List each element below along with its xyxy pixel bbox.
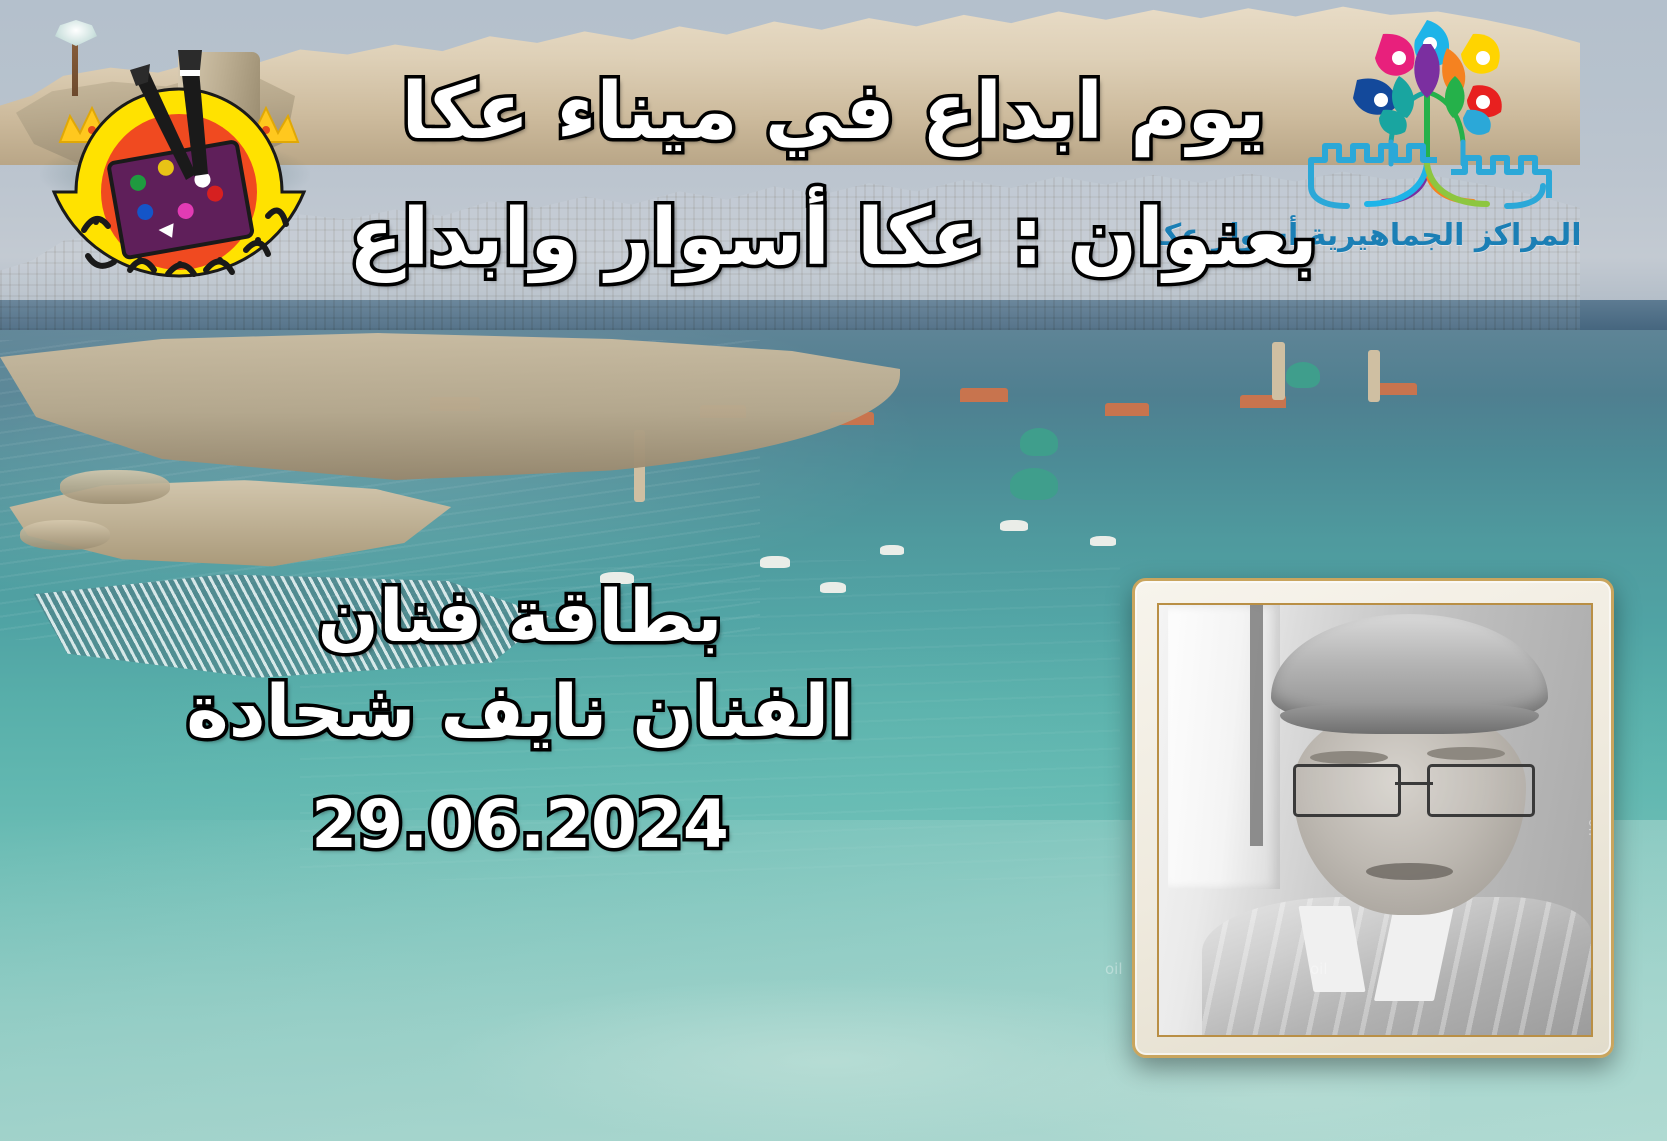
- lens-right: [1427, 764, 1535, 817]
- coastal-rocks: [20, 520, 110, 550]
- poster-title-line1: يوم ابداع في ميناء عكا: [0, 70, 1667, 156]
- portrait-eyebrow: [1310, 751, 1388, 764]
- eyeglasses-icon: [1293, 764, 1535, 811]
- portrait-window-frame: [1250, 605, 1263, 846]
- portrait-window-light: [1168, 605, 1280, 889]
- poster-canvas: المراكز الجماهيرية أسوار عكا يوم ابداع ف…: [0, 0, 1667, 1141]
- lens-left: [1293, 764, 1401, 817]
- rooftop: [1375, 383, 1417, 395]
- mosque-dome: [1020, 428, 1058, 456]
- flat-cap-brim: [1280, 704, 1539, 734]
- mosque-dome: [1286, 362, 1320, 388]
- artist-card-label: بطاقة فنان: [40, 565, 1000, 667]
- minaret: [1272, 342, 1285, 400]
- coastal-rocks: [60, 470, 170, 504]
- watermark-middle: oil: [1310, 960, 1328, 978]
- portrait-watermark: oil: [1585, 819, 1593, 837]
- leaf-shape: [1461, 34, 1500, 74]
- glasses-bridge: [1395, 782, 1434, 785]
- watermark-left: oil: [1105, 960, 1123, 978]
- boat: [1000, 520, 1028, 531]
- mosque-dome: [1010, 468, 1058, 500]
- event-date: 29.06.2024: [40, 778, 1000, 872]
- portrait-mouth: [1366, 863, 1452, 880]
- poster-title-line2: بعنوان : عكا أسوار وابداع: [0, 196, 1667, 282]
- rooftop: [960, 388, 1008, 402]
- artist-portrait-photo: oil: [1157, 603, 1593, 1037]
- boat: [1090, 536, 1116, 546]
- boat: [880, 545, 904, 555]
- portrait-eyebrow: [1427, 747, 1505, 760]
- artist-name: الفنان نايف شحادة: [40, 660, 1000, 762]
- artist-portrait-frame: oil: [1132, 578, 1614, 1058]
- minaret: [1368, 350, 1380, 402]
- rooftop: [1105, 403, 1149, 416]
